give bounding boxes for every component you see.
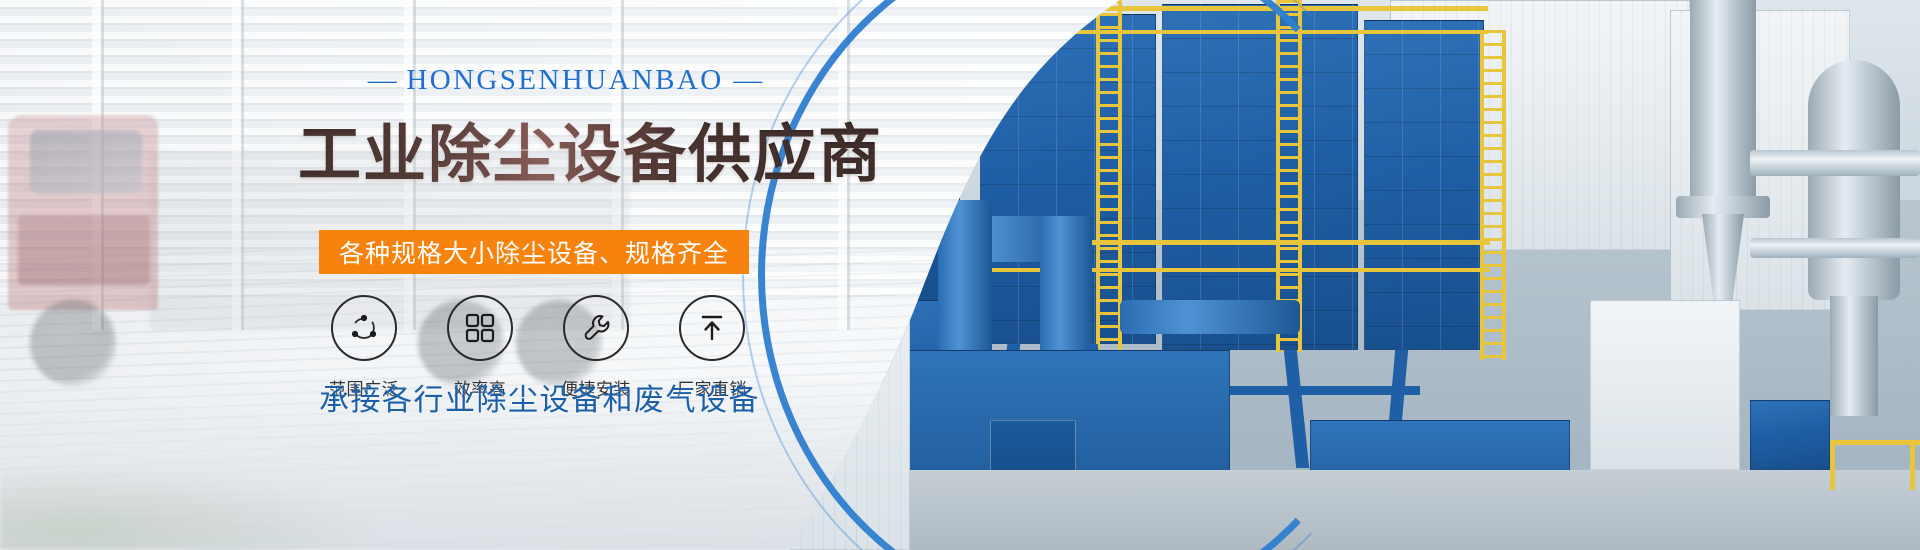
eyebrow-text: HONGSENHUANBAO [406, 64, 723, 96]
hero-content: — HONGSENHUANBAO — 工业除尘设备供应商 各种规格大小除尘设备、… [0, 0, 1120, 550]
overhead-pipe [1750, 150, 1920, 176]
grid-four-squares-icon [463, 311, 497, 345]
baghouse-module-panels [1162, 4, 1358, 350]
tagline: 承接各行业除尘设备和废气设备 [319, 375, 760, 419]
support-leg [1284, 350, 1309, 468]
feature-icon-circle [679, 295, 745, 361]
brand-eyebrow: — HONGSENHUANBAO — [355, 64, 775, 97]
yellow-guardrail-post [1830, 440, 1835, 490]
yellow-guardrail [1830, 440, 1920, 445]
highlight-banner-text: 各种规格大小除尘设备、规格齐全 [339, 234, 729, 270]
highlight-banner: 各种规格大小除尘设备、规格齐全 [319, 230, 749, 274]
overhead-pipe [1750, 238, 1920, 258]
wrench-icon [578, 310, 614, 346]
side-shed [1590, 300, 1740, 470]
small-blue-box [1750, 400, 1830, 470]
page-title: 工业除尘设备供应商 [298, 104, 883, 195]
baghouse-module-panels [1364, 20, 1484, 350]
steel-silo [1690, 0, 1756, 200]
eyebrow-dash-left: — [368, 64, 397, 96]
cyclone-downcomer [1830, 296, 1878, 416]
yellow-guardrail-post [1910, 440, 1915, 490]
arrow-up-bar-icon [695, 311, 729, 345]
feature-icon-circle [331, 295, 397, 361]
cyclone-vessel [1808, 60, 1900, 300]
share-nodes-icon [346, 310, 382, 346]
feature-icon-circle [563, 295, 629, 361]
access-ladder [1480, 30, 1506, 360]
hero-banner: — HONGSENHUANBAO — 工业除尘设备供应商 各种规格大小除尘设备、… [0, 0, 1920, 550]
cross-duct [1120, 300, 1300, 334]
eyebrow-dash-right: — [733, 64, 762, 96]
feature-icon-circle [447, 295, 513, 361]
